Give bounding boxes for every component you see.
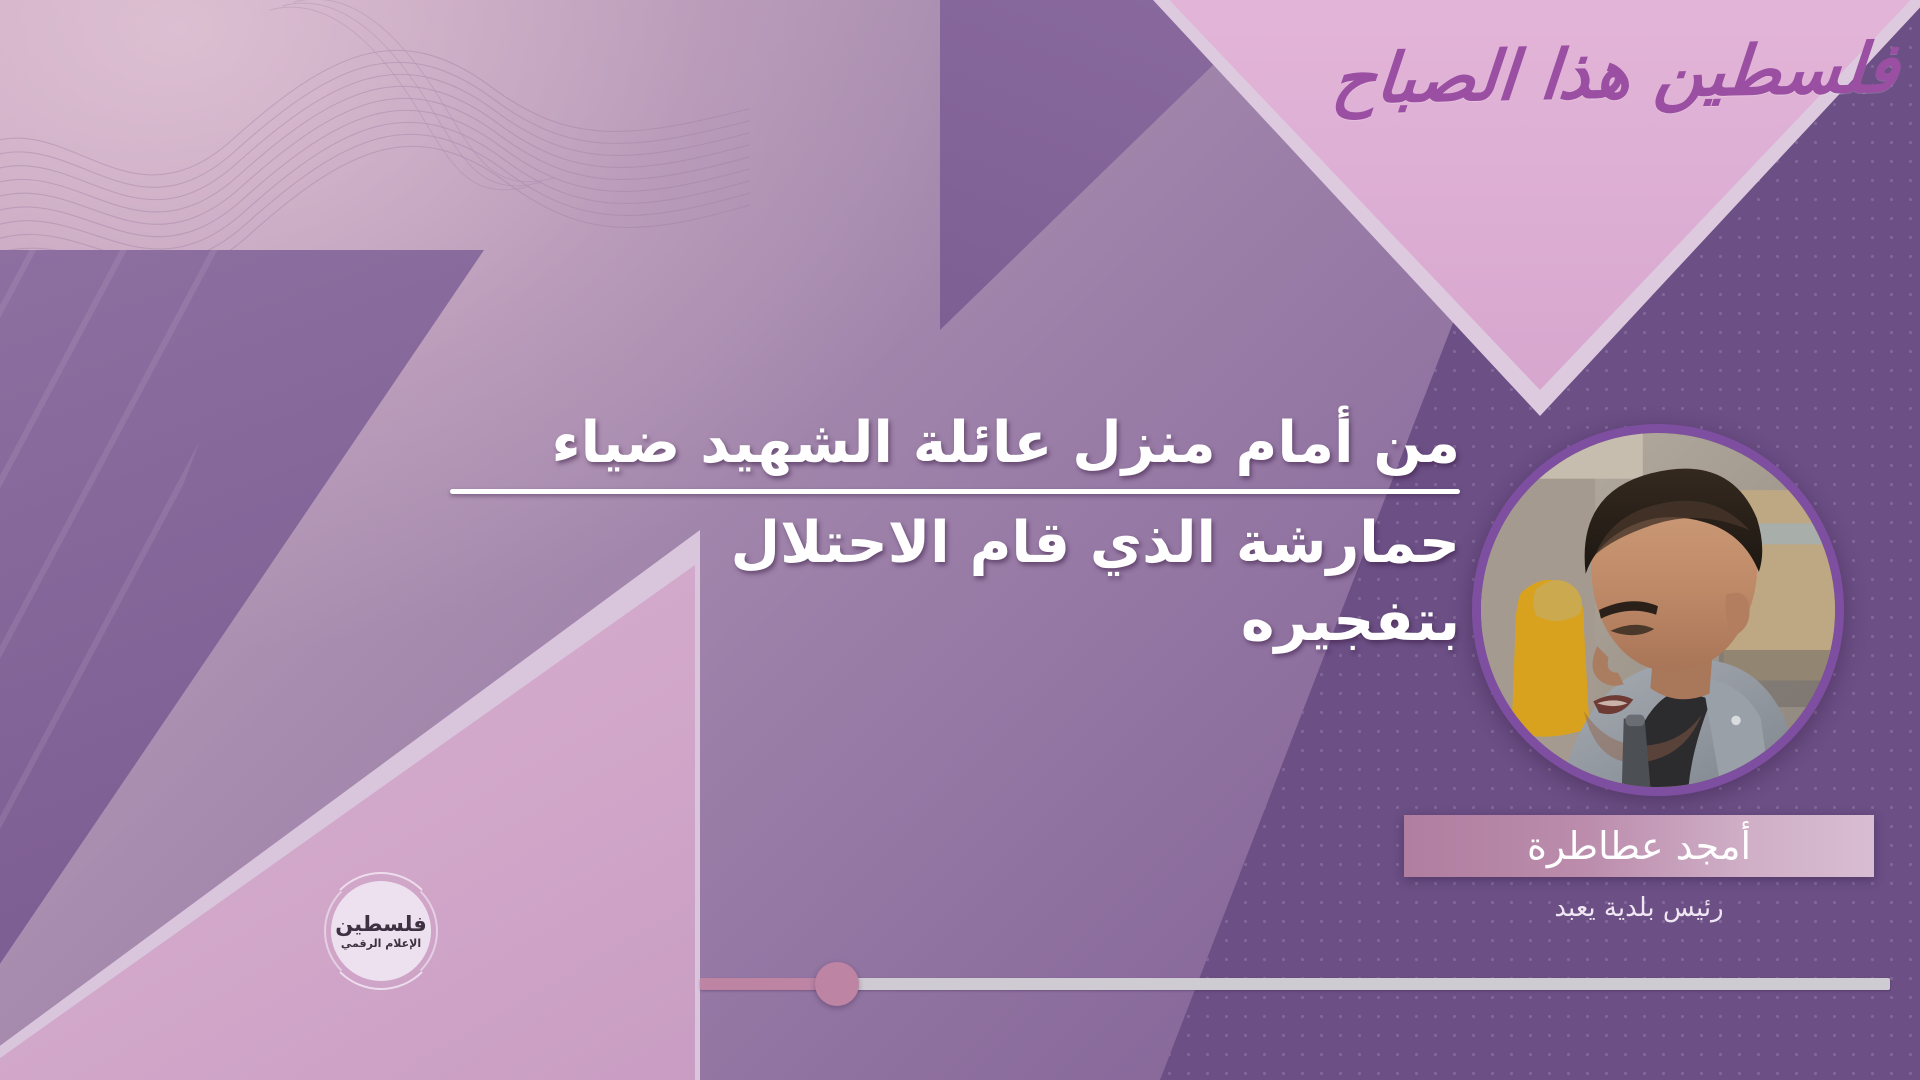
channel-logo: فلسطين هذا الصباح <box>1356 18 1876 130</box>
speaker-name-plate: أمجد عطاطرة <box>1404 815 1874 877</box>
video-progress-bar[interactable] <box>700 978 1890 990</box>
headline-block: من أمام منزل عائلة الشهيد ضياء حمارشة ال… <box>450 404 1460 661</box>
digital-media-watermark: فلسطين الإعلام الرقمي <box>322 872 440 990</box>
watermark-disc: فلسطين الإعلام الرقمي <box>331 881 431 981</box>
speaker-portrait-art <box>1481 433 1835 787</box>
progress-track[interactable] <box>700 978 1890 990</box>
speaker-name: أمجد عطاطرة <box>1527 824 1751 868</box>
left-dark-wedge <box>0 250 1100 1080</box>
dash-texture-overlay <box>0 250 620 1080</box>
watermark-main-text: فلسطين <box>335 914 427 935</box>
speaker-title: رئيس بلدية يعبد <box>1404 893 1874 923</box>
headline-line-3: بتفجيره <box>450 582 1460 661</box>
speaker-avatar <box>1472 424 1844 796</box>
watermark-sub-text: الإعلام الرقمي <box>341 938 421 949</box>
headline-line-2: حمارشة الذي قام الاحتلال <box>450 504 1460 583</box>
broadcast-lower-third-frame: فلسطين هذا الصباح من أمام منزل عائلة الش… <box>0 0 1920 1080</box>
wave-lines-decoration <box>0 0 750 320</box>
headline-underline <box>450 489 1460 494</box>
channel-logo-text: فلسطين هذا الصباح <box>1329 29 1902 120</box>
chevron-left-dark-block <box>940 0 1280 330</box>
headline-line-1: من أمام منزل عائلة الشهيد ضياء <box>450 404 1460 483</box>
progress-handle[interactable] <box>815 962 859 1006</box>
